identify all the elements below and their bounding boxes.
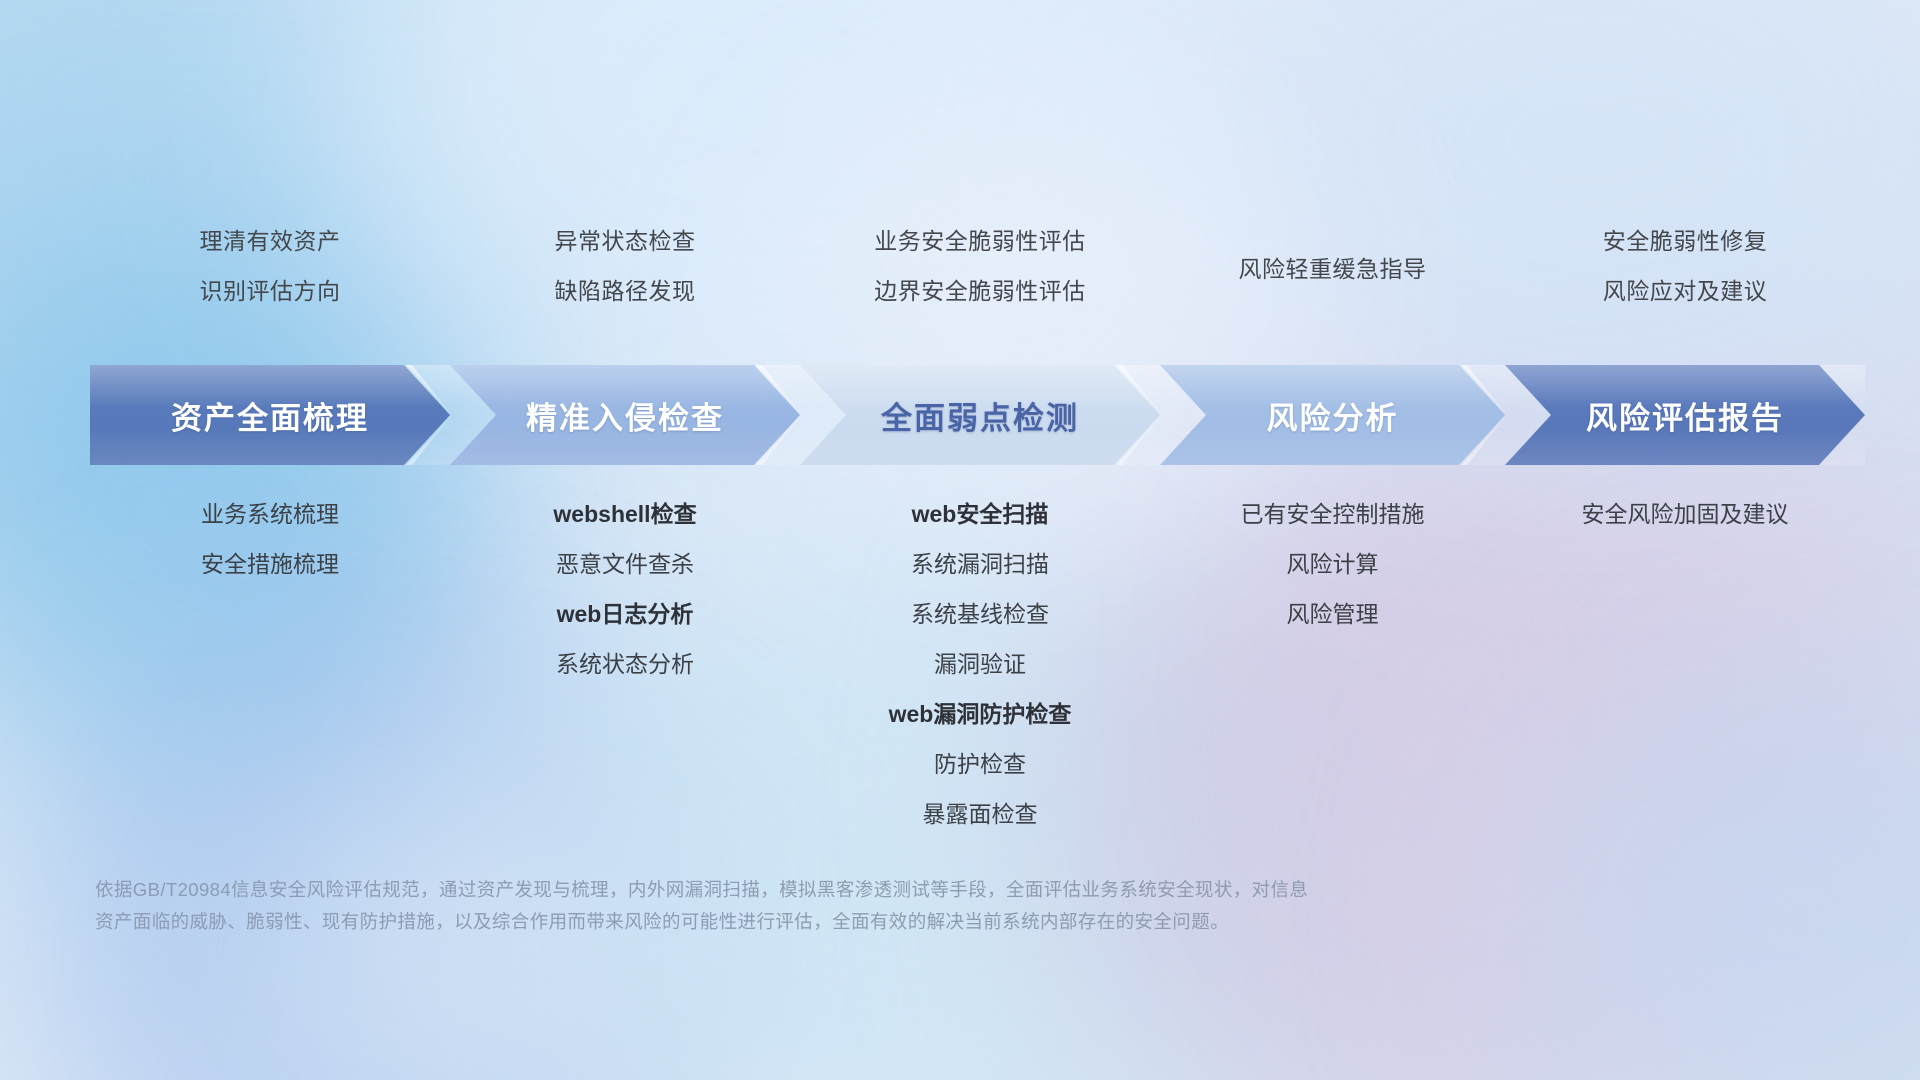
bottom-items-row: 业务系统梳理安全措施梳理webshell检查恶意文件查杀web日志分析系统状态分…	[0, 503, 1920, 853]
list-item: 防护检查	[800, 753, 1160, 776]
process-step-risk-analysis[interactable]: 风险分析	[1160, 365, 1505, 465]
list-item: 安全措施梳理	[90, 553, 450, 576]
process-step-intrusion-check[interactable]: 精准入侵检查	[450, 365, 800, 465]
list-item: 暴露面检查	[800, 803, 1160, 826]
process-step-label: 风险评估报告	[1586, 393, 1784, 438]
list-item: 风险计算	[1160, 553, 1505, 576]
list-item: 漏洞验证	[800, 653, 1160, 676]
top-label: 安全脆弱性修复	[1505, 230, 1865, 253]
process-diagram: 理清有效资产识别评估方向异常状态检查缺陷路径发现业务安全脆弱性评估边界安全脆弱性…	[0, 0, 1920, 1080]
top-label: 识别评估方向	[90, 280, 450, 303]
list-item: 业务系统梳理	[90, 503, 450, 526]
top-labels-intrusion-check: 异常状态检查缺陷路径发现	[450, 230, 800, 330]
process-step-label: 全面弱点检测	[881, 393, 1079, 438]
footer-line-2: 资产面临的威胁、脆弱性、现有防护措施，以及综合作用而带来风险的可能性进行评估，全…	[95, 906, 1635, 938]
items-weakness-detection: web安全扫描系统漏洞扫描系统基线检查漏洞验证web漏洞防护检查防护检查暴露面检…	[800, 503, 1160, 853]
process-step-label: 精准入侵检查	[526, 393, 724, 438]
list-item: 风险管理	[1160, 603, 1505, 626]
list-item: 系统状态分析	[450, 653, 800, 676]
list-item: 已有安全控制措施	[1160, 503, 1505, 526]
top-labels-assessment-report: 安全脆弱性修复风险应对及建议	[1505, 230, 1865, 330]
process-step-asset-inventory[interactable]: 资产全面梳理	[90, 365, 450, 465]
items-asset-inventory: 业务系统梳理安全措施梳理	[90, 503, 450, 603]
top-label: 缺陷路径发现	[450, 280, 800, 303]
process-arrow-band: 资产全面梳理精准入侵检查全面弱点检测风险分析风险评估报告	[0, 365, 1920, 465]
process-step-weakness-detection[interactable]: 全面弱点检测	[800, 365, 1160, 465]
top-labels-row: 理清有效资产识别评估方向异常状态检查缺陷路径发现业务安全脆弱性评估边界安全脆弱性…	[0, 230, 1920, 330]
footer-description: 依据GB/T20984信息安全风险评估规范，通过资产发现与梳理，内外网漏洞扫描，…	[95, 874, 1635, 939]
list-item: webshell检查	[450, 503, 800, 526]
items-assessment-report: 安全风险加固及建议	[1505, 503, 1865, 553]
top-labels-asset-inventory: 理清有效资产识别评估方向	[90, 230, 450, 330]
items-risk-analysis: 已有安全控制措施风险计算风险管理	[1160, 503, 1505, 653]
list-item: 恶意文件查杀	[450, 553, 800, 576]
process-step-assessment-report[interactable]: 风险评估报告	[1505, 365, 1865, 465]
list-item: 安全风险加固及建议	[1505, 503, 1865, 526]
top-label: 业务安全脆弱性评估	[800, 230, 1160, 253]
top-labels-weakness-detection: 业务安全脆弱性评估边界安全脆弱性评估	[800, 230, 1160, 330]
top-label: 理清有效资产	[90, 230, 450, 253]
footer-line-1: 依据GB/T20984信息安全风险评估规范，通过资产发现与梳理，内外网漏洞扫描，…	[95, 874, 1635, 906]
list-item: 系统基线检查	[800, 603, 1160, 626]
list-item: web安全扫描	[800, 503, 1160, 526]
list-item: web漏洞防护检查	[800, 703, 1160, 726]
top-label: 风险应对及建议	[1505, 280, 1865, 303]
items-intrusion-check: webshell检查恶意文件查杀web日志分析系统状态分析	[450, 503, 800, 703]
list-item: web日志分析	[450, 603, 800, 626]
top-label: 边界安全脆弱性评估	[800, 280, 1160, 303]
list-item: 系统漏洞扫描	[800, 553, 1160, 576]
process-step-label: 资产全面梳理	[171, 393, 369, 438]
process-step-label: 风险分析	[1267, 393, 1399, 438]
top-label: 风险轻重缓急指导	[1160, 258, 1505, 281]
top-labels-risk-analysis: 风险轻重缓急指导	[1160, 230, 1505, 308]
top-label: 异常状态检查	[450, 230, 800, 253]
